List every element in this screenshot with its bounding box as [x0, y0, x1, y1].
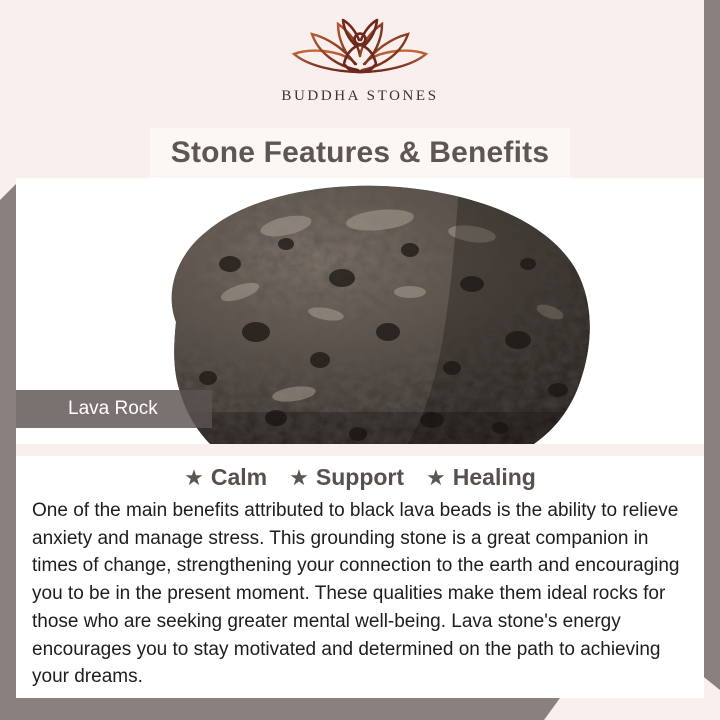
benefit-item-healing: ★ Healing	[426, 464, 536, 491]
brand-name: BUDDHA STONES	[281, 88, 438, 105]
benefit-label: Healing	[453, 464, 536, 491]
star-icon: ★	[289, 467, 309, 489]
photo-caption-band: Lava Rock	[16, 390, 212, 428]
description-text: One of the main benefits attributed to b…	[32, 497, 690, 691]
info-card: BUDDHA STONES Stone Features & Benefits	[16, 0, 704, 698]
benefits-panel: ★ Calm ★ Support ★ Healing One of the ma…	[16, 456, 704, 698]
benefits-list: ★ Calm ★ Support ★ Healing	[16, 456, 704, 491]
benefit-label: Support	[316, 464, 404, 491]
lava-rock-photo: Lava Rock	[16, 178, 704, 444]
lotus-meditation-logo-icon	[276, 14, 444, 86]
benefit-item-calm: ★ Calm	[184, 464, 267, 491]
section-title-band: Stone Features & Benefits	[150, 128, 570, 178]
benefit-label: Calm	[211, 464, 267, 491]
separator-band	[16, 444, 704, 456]
brand-header: BUDDHA STONES	[16, 0, 704, 128]
benefit-item-support: ★ Support	[289, 464, 404, 491]
shadow-edge-bottom	[0, 698, 720, 720]
star-icon: ★	[426, 467, 446, 489]
photo-caption: Lava Rock	[16, 398, 158, 420]
star-icon: ★	[184, 467, 204, 489]
page-title: Stone Features & Benefits	[171, 136, 549, 170]
